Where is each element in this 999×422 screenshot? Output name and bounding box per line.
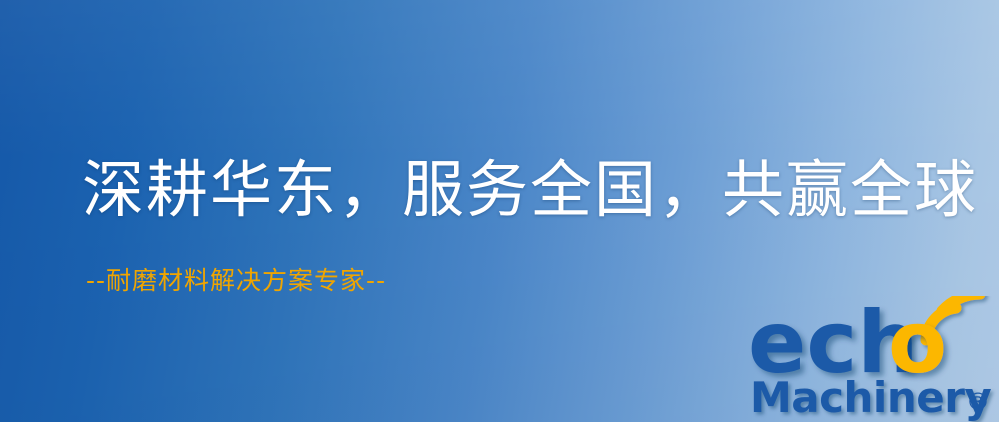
promotional-banner: 深耕华东，服务全国，共赢全球 --耐磨材料解决方案专家-- ech [0, 0, 999, 422]
logo-tagline: Machinery [750, 373, 991, 422]
echo-machinery-logo: ech o Machinery ® [744, 296, 999, 422]
registered-trademark-icon: ® [966, 388, 990, 416]
svg-text:Machinery: Machinery [750, 373, 991, 422]
banner-subtitle: --耐磨材料解决方案专家-- [86, 264, 386, 298]
banner-headline: 深耕华东，服务全国，共赢全球 [82, 150, 978, 230]
